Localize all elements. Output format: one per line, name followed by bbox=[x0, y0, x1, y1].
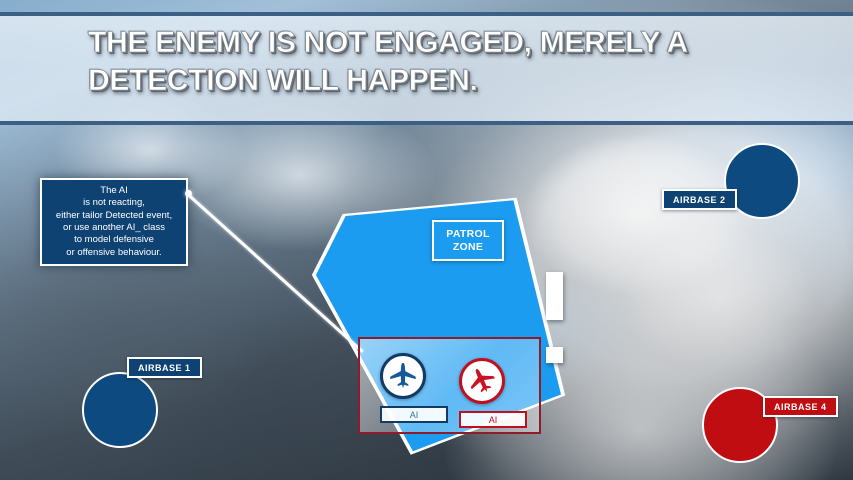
callout-line: The AI bbox=[100, 185, 127, 197]
fighter-jet-red-icon bbox=[459, 358, 505, 404]
airbase-2-label-text: AIRBASE 2 bbox=[673, 195, 726, 205]
airbase-1-label: AIRBASE 1 bbox=[127, 357, 202, 378]
slide-canvas: THE ENEMY IS NOT ENGAGED, MERELY A DETEC… bbox=[0, 0, 853, 480]
airbase-4-label-text: AIRBASE 4 bbox=[774, 402, 827, 412]
unit-friendly[interactable]: AI bbox=[380, 353, 448, 423]
callout-line: or offensive behaviour. bbox=[66, 247, 161, 259]
patrol-zone-label: PATROL ZONE bbox=[432, 220, 504, 261]
callout-line: to model defensive bbox=[74, 234, 154, 246]
engagement-detail-panel: AI AI bbox=[358, 337, 541, 434]
ai-behaviour-callout: The AI is not reacting, either tailor De… bbox=[40, 178, 188, 266]
airbase-4-label: AIRBASE 4 bbox=[763, 396, 838, 417]
fighter-jet-blue-icon bbox=[380, 353, 426, 399]
exclamation-mark-dot-icon bbox=[546, 347, 563, 363]
airbase-1-label-text: AIRBASE 1 bbox=[138, 363, 191, 373]
unit-label-enemy: AI bbox=[459, 411, 527, 428]
callout-line: either tailor Detected event, bbox=[56, 210, 172, 222]
page-title: THE ENEMY IS NOT ENGAGED, MERELY A DETEC… bbox=[88, 24, 808, 101]
callout-line: is not reacting, bbox=[83, 197, 145, 209]
airbase-2-label: AIRBASE 2 bbox=[662, 189, 737, 210]
exclamation-mark-icon bbox=[546, 272, 563, 320]
unit-enemy[interactable]: AI bbox=[459, 358, 527, 428]
patrol-zone-label-line2: ZONE bbox=[453, 241, 483, 254]
airbase-1-circle[interactable] bbox=[82, 372, 158, 448]
patrol-zone-label-line1: PATROL bbox=[446, 228, 489, 241]
callout-line: or use another AI_ class bbox=[63, 222, 165, 234]
unit-label-friendly: AI bbox=[380, 406, 448, 423]
